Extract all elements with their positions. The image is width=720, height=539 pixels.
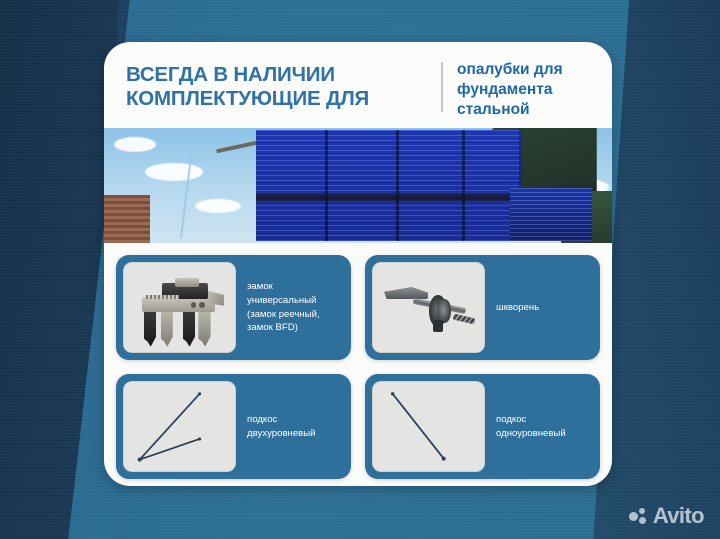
kingpin-threaded-tip [452,314,475,325]
avito-dot-large [629,512,638,521]
avito-wordmark: Avito [653,505,704,527]
headline-block: ВСЕГДА В НАЛИЧИИ КОМПЛЕКТУЮЩИЕ ДЛЯ опалу… [104,42,612,128]
brick-pile [104,195,150,243]
cloud-shape [195,199,241,213]
product-label: подкос одноуровневый [492,374,600,479]
kingpin-icon [373,263,484,352]
product-card-single-level-brace[interactable]: подкос одноуровневый [365,374,600,479]
product-thumb-single-level-brace [372,381,485,472]
cloud-shape [114,137,156,152]
avito-dot-small [639,508,645,514]
two-level-brace-icon [124,382,235,471]
single-level-brace-icon [373,382,484,471]
product-label: подкос двухуровневый [243,374,351,479]
headline-divider [441,62,443,112]
lock-jaw [183,311,195,347]
product-thumb-kingpin [372,262,485,353]
lock-jaw [144,311,156,347]
kingpin-nut [433,320,443,332]
product-label: замок универсальный (замок реечный, замо… [243,255,351,360]
product-thumb-universal-lock [123,262,236,353]
cloud-shape [145,163,203,181]
lock-rack-teeth [146,295,179,299]
lock-jaw [161,311,173,347]
formwork-panel-stack-right [510,188,591,241]
product-card-kingpin[interactable]: шкворень [365,255,600,360]
panel-seam [462,130,465,240]
avito-watermark: Avito [629,505,704,527]
headline-secondary: опалубки для фундамента стальной [457,60,598,119]
products-grid: замок универсальный (замок реечный, замо… [104,243,612,486]
avito-dots-icon [629,507,648,526]
universal-lock-icon [124,263,235,352]
stack-shadow-gap [256,194,520,201]
lock-jaw [198,311,210,347]
product-thumb-two-level-brace [123,381,236,472]
avito-dot-medium [639,517,646,524]
kingpin-handle [384,287,428,299]
formwork-panel-stack [256,130,520,240]
hero-photo [104,128,612,243]
product-card-two-level-brace[interactable]: подкос двухуровневый [116,374,351,479]
lock-cap [175,278,199,287]
poster-card: ВСЕГДА В НАЛИЧИИ КОМПЛЕКТУЮЩИЕ ДЛЯ опалу… [104,42,612,486]
panel-seam [325,130,328,240]
product-label: шкворень [492,255,600,360]
product-card-universal-lock[interactable]: замок универсальный (замок реечный, замо… [116,255,351,360]
headline-primary: ВСЕГДА В НАЛИЧИИ КОМПЛЕКТУЮЩИЕ ДЛЯ [126,60,441,111]
panel-seam [396,130,399,240]
